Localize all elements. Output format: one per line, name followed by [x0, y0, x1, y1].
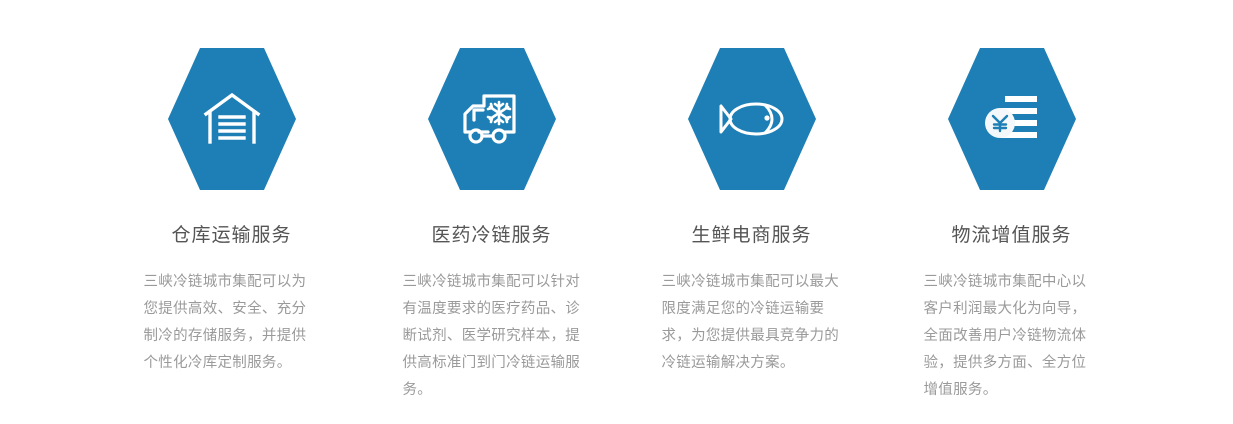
- service-description: 三峡冷链城市集配可以针对有温度要求的医疗药品、诊断试剂、医学研究样本，提供高标准…: [403, 269, 581, 404]
- hexagon-shape: [688, 48, 816, 190]
- service-description: 三峡冷链城市集配可以最大限度满足您的冷链运输要求，为您提供最具竞争力的冷链运输解…: [662, 269, 842, 377]
- hexagon-shape: [948, 48, 1076, 190]
- service-description: 三峡冷链城市集配中心以客户利润最大化为向导，全面改善用户冷链物流体验，提供多方面…: [924, 269, 1100, 404]
- service-card-warehouse[interactable]: 仓库运输服务 三峡冷链城市集配可以为您提供高效、安全、充分制冷的存储服务，并提供…: [129, 48, 334, 377]
- service-description: 三峡冷链城市集配可以为您提供高效、安全、充分制冷的存储服务，并提供个性化冷库定制…: [144, 269, 320, 377]
- service-title: 医药冷链服务: [431, 223, 551, 249]
- hexagon-shape: [428, 48, 556, 190]
- services-row: 仓库运输服务 三峡冷链城市集配可以为您提供高效、安全、充分制冷的存储服务，并提供…: [0, 0, 1233, 404]
- service-title: 物流增值服务: [951, 223, 1071, 249]
- services-section: 仓库运输服务 三峡冷链城市集配可以为您提供高效、安全、充分制冷的存储服务，并提供…: [0, 0, 1233, 424]
- hexagon-shape: [168, 48, 296, 190]
- service-card-value-added[interactable]: 物流增值服务 三峡冷链城市集配中心以客户利润最大化为向导，全面改善用户冷链物流体…: [909, 48, 1114, 404]
- service-title: 仓库运输服务: [171, 223, 291, 249]
- hexagon-badge-warehouse[interactable]: [168, 48, 296, 190]
- service-title: 生鲜电商服务: [691, 223, 811, 249]
- service-card-fresh-ecommerce[interactable]: 生鲜电商服务 三峡冷链城市集配可以最大限度满足您的冷链运输要求，为您提供最具竞争…: [649, 48, 854, 377]
- service-card-pharma-cold-chain[interactable]: 医药冷链服务 三峡冷链城市集配可以针对有温度要求的医疗药品、诊断试剂、医学研究样…: [389, 48, 594, 404]
- hexagon-badge-pharma[interactable]: [428, 48, 556, 190]
- hexagon-badge-fresh[interactable]: [688, 48, 816, 190]
- hexagon-badge-value-added[interactable]: [948, 48, 1076, 190]
